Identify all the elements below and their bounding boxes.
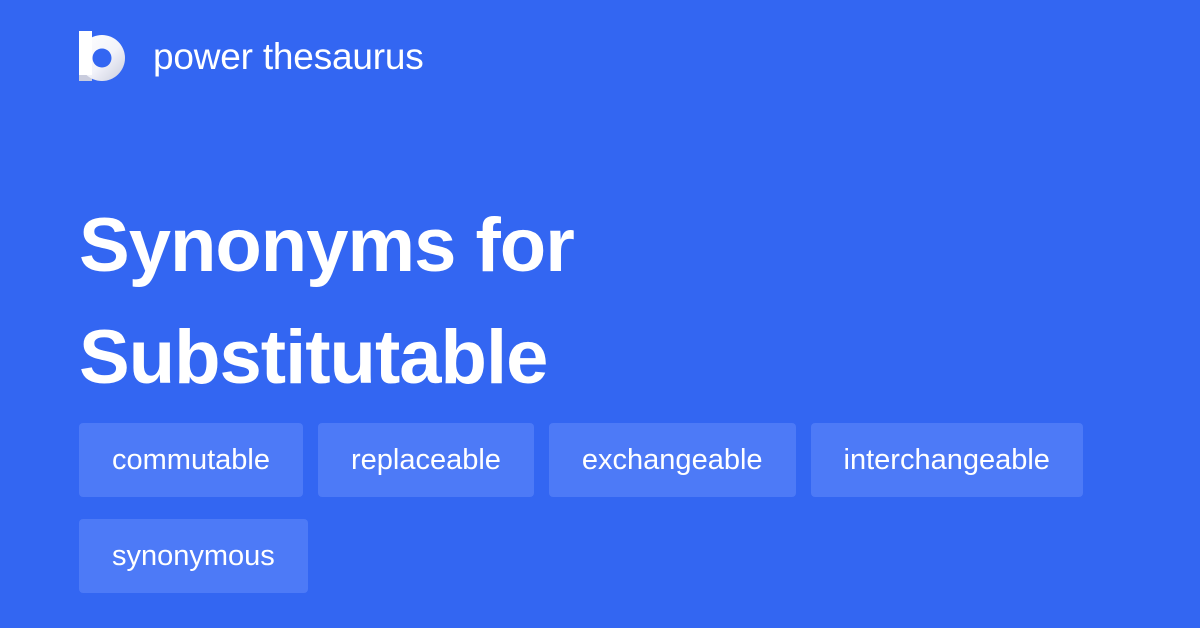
- synonym-tag-label: exchangeable: [582, 446, 763, 475]
- synonym-tag-label: replaceable: [351, 446, 501, 475]
- synonym-tag-list: commutable replaceable exchangeable inte…: [79, 423, 1129, 593]
- share-card: power thesaurus Synonyms for Substitutab…: [0, 0, 1200, 628]
- page-title-line-1: Synonyms for: [79, 190, 839, 302]
- synonym-tag-label: synonymous: [112, 542, 275, 571]
- synonym-tag[interactable]: replaceable: [318, 423, 534, 497]
- page-title-line-2: Substitutable: [79, 302, 839, 414]
- brand-header[interactable]: power thesaurus: [79, 28, 424, 84]
- synonym-tag-label: commutable: [112, 446, 270, 475]
- synonym-tag[interactable]: exchangeable: [549, 423, 796, 497]
- synonym-tag[interactable]: interchangeable: [811, 423, 1083, 497]
- synonym-tag[interactable]: synonymous: [79, 519, 308, 593]
- synonym-tag-label: interchangeable: [844, 446, 1050, 475]
- power-thesaurus-b-logo-icon: [79, 31, 125, 81]
- brand-name: power thesaurus: [153, 38, 424, 75]
- synonym-tag[interactable]: commutable: [79, 423, 303, 497]
- page-title: Synonyms for Substitutable: [79, 190, 839, 414]
